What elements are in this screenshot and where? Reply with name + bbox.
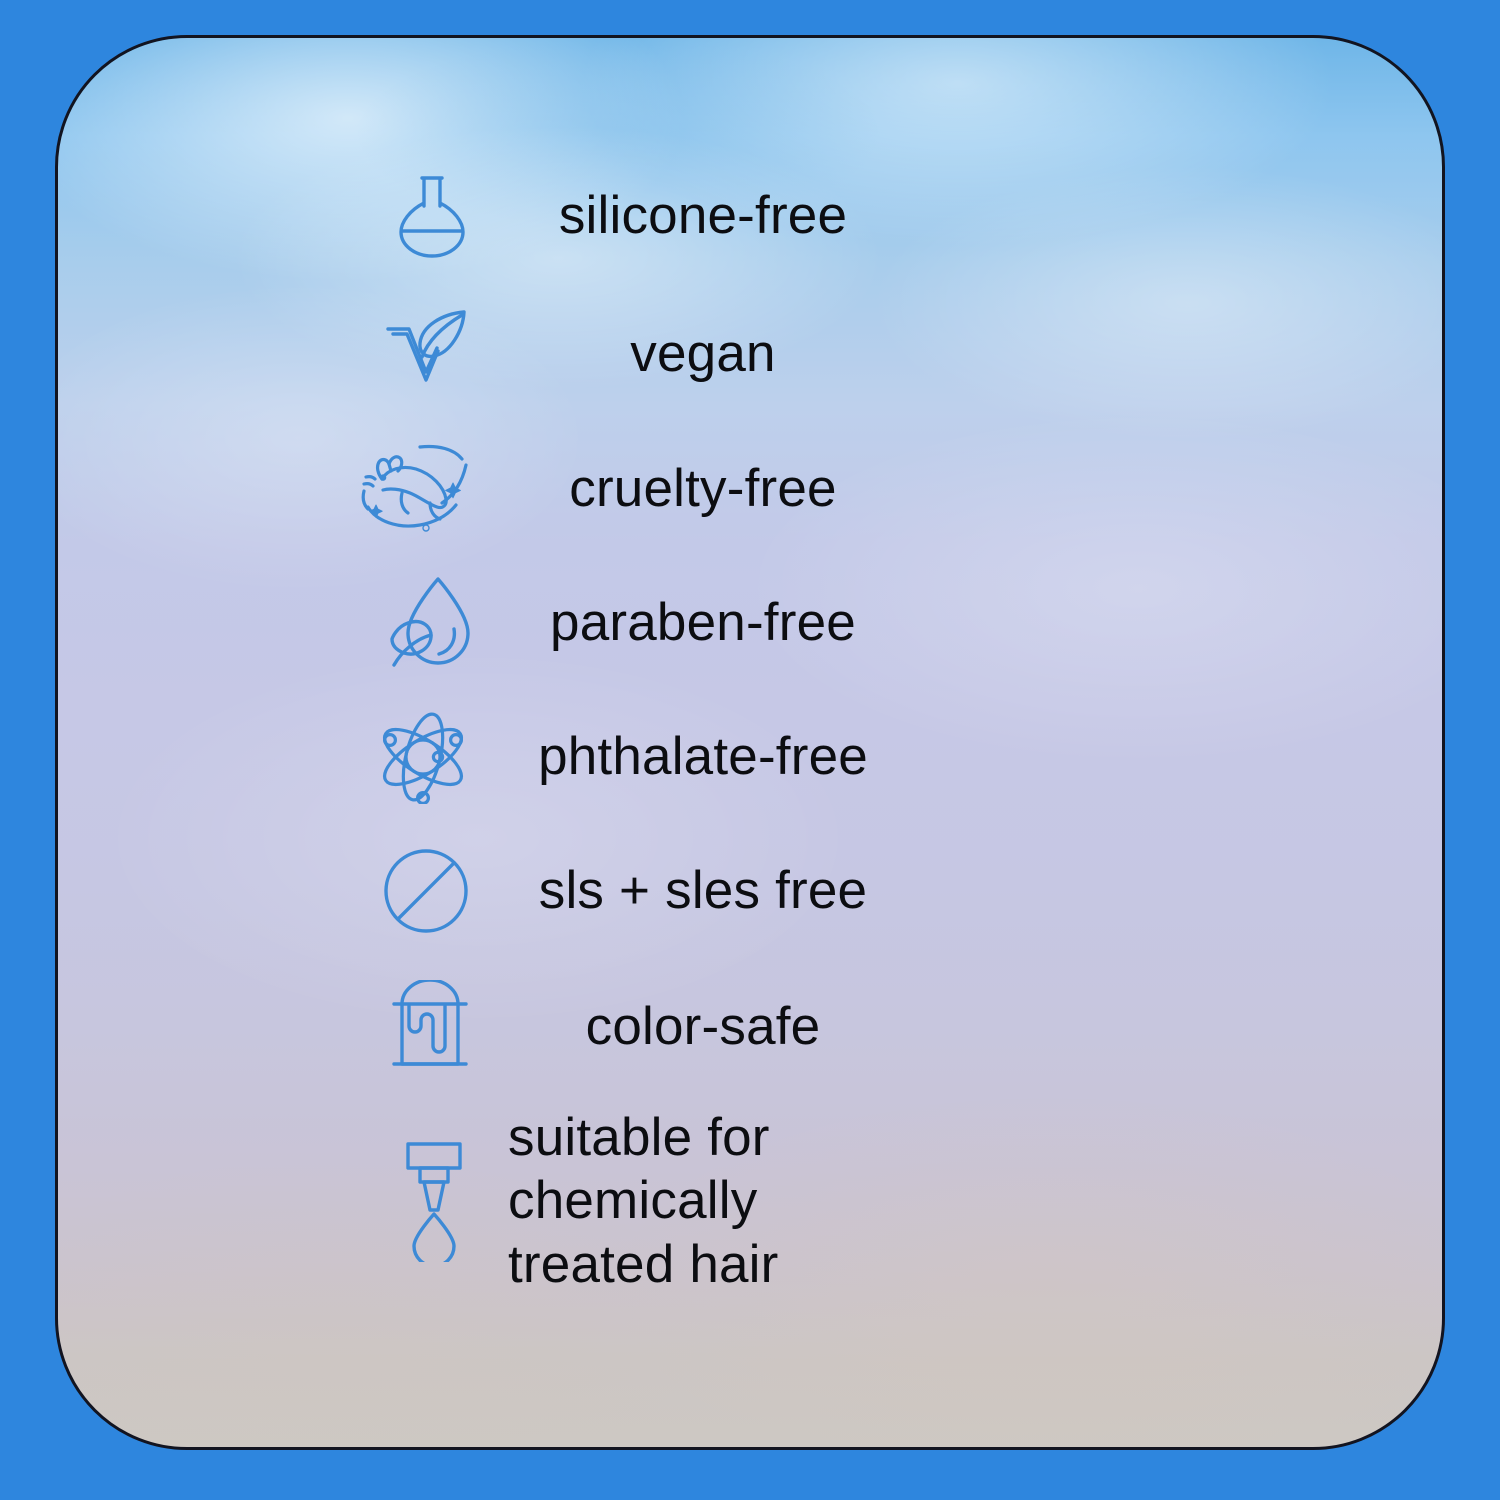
feature-item-color-safe: color-safe bbox=[58, 958, 1442, 1096]
feature-label: sls + sles free bbox=[508, 859, 898, 923]
feature-label: paraben-free bbox=[508, 591, 898, 655]
feature-list: silicone-free vegan bbox=[58, 38, 1442, 1447]
feature-item-cruelty-free: cruelty-free bbox=[58, 422, 1442, 556]
feature-label: vegan bbox=[508, 322, 898, 386]
no-entry-circle-icon bbox=[58, 847, 508, 935]
vegan-leaf-v-icon bbox=[58, 308, 508, 400]
feature-item-chemically-treated-hair: suitable for chemically treated hair bbox=[58, 1096, 1442, 1306]
feature-label: phthalate-free bbox=[508, 725, 898, 789]
atom-icon bbox=[58, 710, 508, 804]
feature-label: cruelty-free bbox=[508, 457, 898, 521]
paint-bucket-icon bbox=[58, 980, 508, 1074]
feature-label: color-safe bbox=[508, 995, 898, 1059]
feature-item-vegan: vegan bbox=[58, 286, 1442, 422]
feature-item-silicone-free: silicone-free bbox=[58, 146, 1442, 286]
dropper-drip-icon bbox=[58, 1140, 508, 1262]
droplet-leaf-icon bbox=[58, 575, 508, 671]
feature-item-sls-sles-free: sls + sles free bbox=[58, 824, 1442, 958]
leaping-bunny-icon bbox=[58, 443, 508, 535]
feature-item-phthalate-free: phthalate-free bbox=[58, 690, 1442, 824]
flask-icon bbox=[58, 172, 508, 260]
feature-label: suitable for chemically treated hair bbox=[508, 1106, 938, 1297]
feature-label: silicone-free bbox=[508, 184, 898, 248]
feature-item-paraben-free: paraben-free bbox=[58, 556, 1442, 690]
feature-card: silicone-free vegan bbox=[55, 35, 1445, 1450]
